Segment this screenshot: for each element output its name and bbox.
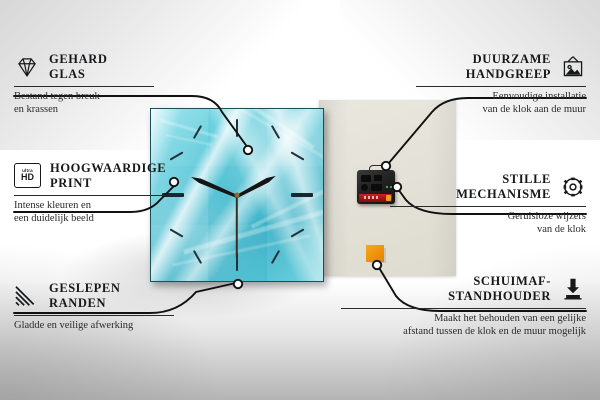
beveled-edges-icon xyxy=(14,284,40,308)
feature-divider xyxy=(390,206,586,207)
diamond-icon xyxy=(14,55,40,79)
feature-header: STILLE MECHANISME xyxy=(376,172,586,201)
feature-stille-mechanisme: STILLE MECHANISME Geru xyxy=(376,172,586,236)
connector-dot-schuimafstandhouder xyxy=(373,261,381,269)
feature-divider xyxy=(14,86,154,87)
feature-description: Geruisloze wijzers van de klok xyxy=(376,211,586,236)
feature-title: STILLE MECHANISME xyxy=(456,172,551,201)
feature-description: Eenvoudige installatie van de klok aan d… xyxy=(376,91,586,116)
feature-schuimafstandhouder: SCHUIMAF- STANDHOUDER Maakt het behouden… xyxy=(321,274,586,338)
feature-header: DUURZAME HANDGREEP xyxy=(376,52,586,81)
picture-frame-icon xyxy=(560,55,586,79)
gear-icon xyxy=(560,175,586,199)
feature-header: GESLEPEN RANDEN xyxy=(14,281,204,310)
feature-divider xyxy=(416,86,586,87)
feature-description: Intense kleuren en een duidelijk beeld xyxy=(14,200,204,225)
feature-title: SCHUIMAF- STANDHOUDER xyxy=(448,274,551,303)
feature-title: GEHARD GLAS xyxy=(49,52,107,81)
feature-title: HOOGWAARDIGE PRINT xyxy=(50,161,166,190)
feature-description: Bestand tegen breuk en krassen xyxy=(14,91,194,116)
stamp-down-arrow-icon xyxy=(560,277,586,301)
connector-dot-geslepen-randen xyxy=(234,280,242,288)
connector-dot-duurzame-handgreep xyxy=(382,162,390,170)
feature-description: Gladde en veilige afwerking xyxy=(14,320,204,333)
feature-duurzame-handgreep: DUURZAME HANDGREEP Eenvoudige installati… xyxy=(376,52,586,116)
feature-header: ultra HD HOOGWAARDIGE PRINT xyxy=(14,161,204,190)
feature-header: SCHUIMAF- STANDHOUDER xyxy=(321,274,586,303)
feature-gehard-glas: GEHARD GLAS Bestand tegen breuk en krass… xyxy=(14,52,194,116)
feature-divider xyxy=(14,315,174,316)
connector-dot-gehard-glas xyxy=(244,146,252,154)
feature-divider xyxy=(14,195,166,196)
feature-geslepen-randen: GESLEPEN RANDEN Gladde en veilige afwerk… xyxy=(14,281,204,333)
feature-description: Maakt het behouden van een gelijke afsta… xyxy=(321,313,586,338)
feature-divider xyxy=(341,308,586,309)
feature-title: DUURZAME HANDGREEP xyxy=(466,52,551,81)
feature-hoogwaardige-print: ultra HD HOOGWAARDIGE PRINT Intense kleu… xyxy=(14,161,204,225)
feature-header: GEHARD GLAS xyxy=(14,52,194,81)
ultra-hd-icon: ultra HD xyxy=(14,163,41,188)
feature-title: GESLEPEN RANDEN xyxy=(49,281,121,310)
product-infographic: GEHARD GLAS Bestand tegen breuk en krass… xyxy=(0,0,600,400)
